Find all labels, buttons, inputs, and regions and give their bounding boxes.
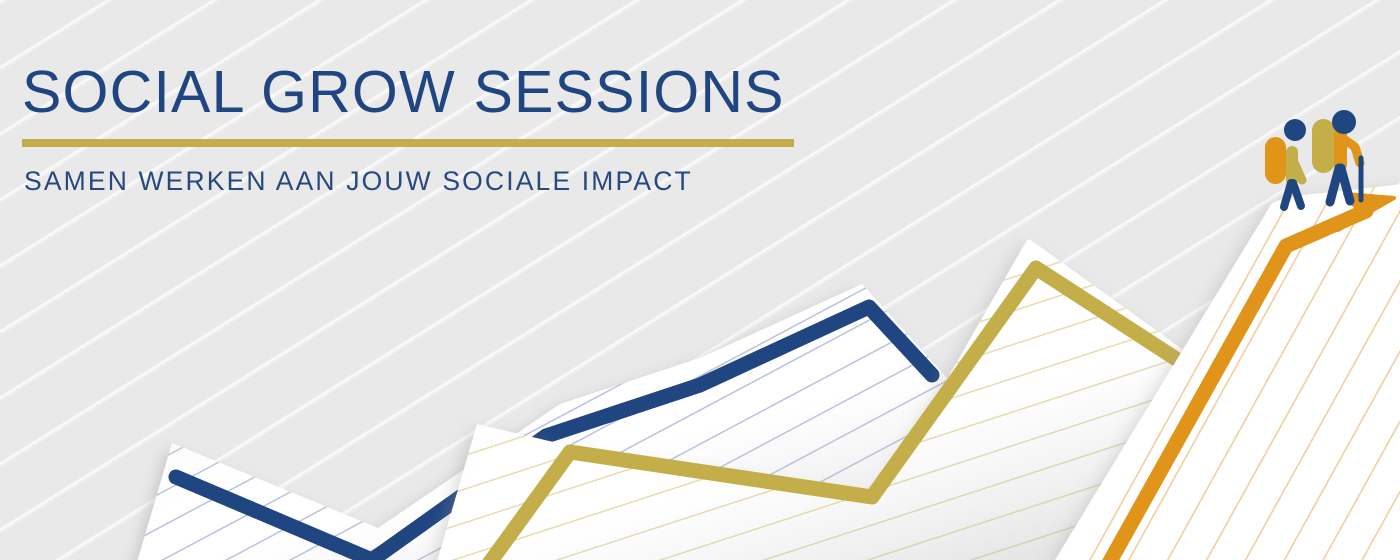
head <box>1284 119 1306 141</box>
backpack-icon <box>1312 119 1335 173</box>
growth-chart-illustration <box>0 0 1400 560</box>
hiker-front <box>1312 110 1361 202</box>
head <box>1332 110 1356 134</box>
banner-hero: SOCIAL GROW SESSIONS SAMEN WERKEN AAN JO… <box>0 0 1400 560</box>
hiker-back <box>1265 119 1306 207</box>
backpack-icon <box>1265 137 1286 184</box>
